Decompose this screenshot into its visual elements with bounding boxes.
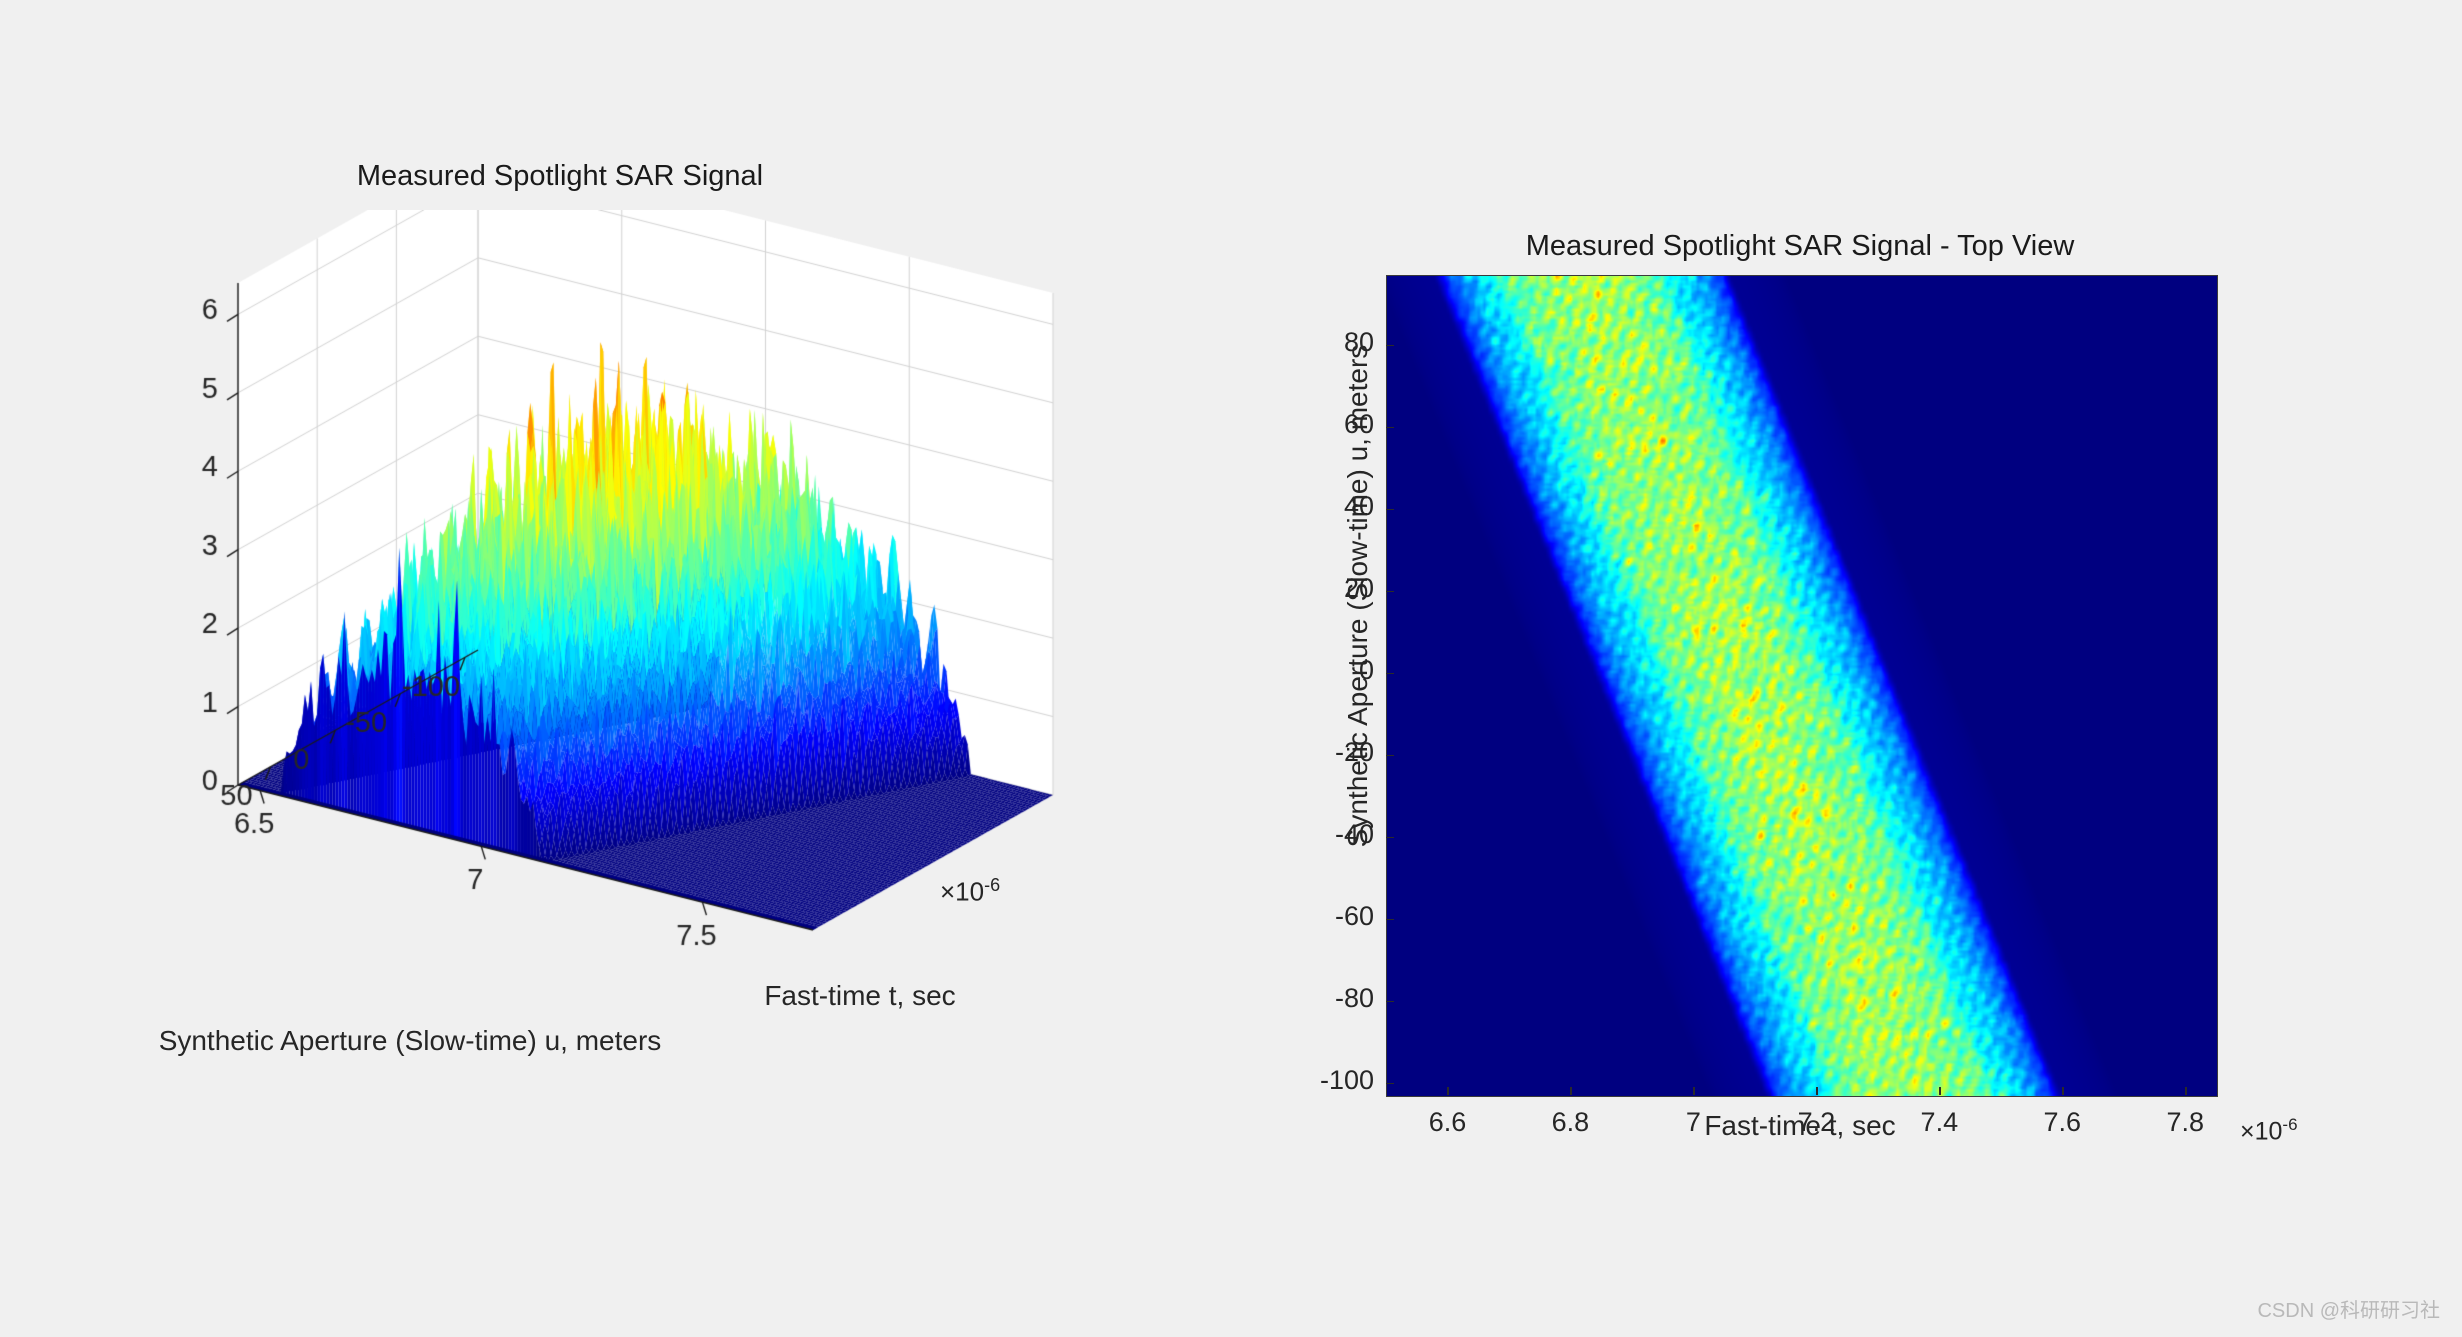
heatmap-xtick-mark <box>2185 1087 2187 1095</box>
heatmap-ytick: 80 <box>1290 327 1374 358</box>
heatmap-ytick: 40 <box>1290 491 1374 522</box>
heatmap-xtick-mark <box>1693 1087 1695 1095</box>
heatmap-ytick: -80 <box>1290 983 1374 1014</box>
heatmap-xtick: 6.6 <box>1407 1107 1487 1138</box>
surface-xaxis-label: Fast-time t, sec <box>670 980 1050 1012</box>
heatmap-ytick-mark <box>1386 509 1394 511</box>
heatmap-xtick-mark <box>1570 1087 1572 1095</box>
heatmap-xtick: 7.2 <box>1776 1107 1856 1138</box>
heatmap-ytick-mark <box>1386 591 1394 593</box>
surface-plot-canvas <box>130 210 1190 1000</box>
heatmap-ytick-mark <box>1386 1001 1394 1003</box>
heatmap-ytick: 0 <box>1290 655 1374 686</box>
heatmap-ytick-mark <box>1386 673 1394 675</box>
heatmap-ytick-mark <box>1386 755 1394 757</box>
heatmap-xtick-mark <box>1816 1087 1818 1095</box>
heatmap-ytick-mark <box>1386 427 1394 429</box>
heatmap-ytick: -40 <box>1290 819 1374 850</box>
matlab-figure: Measured Spotlight SAR Signal Fast-time … <box>0 0 2462 1337</box>
heatmap-ytick: 20 <box>1290 573 1374 604</box>
heatmap-ytick: -20 <box>1290 737 1374 768</box>
surface-yaxis-label: Synthetic Aperture (Slow-time) u, meters <box>130 1025 690 1057</box>
heatmap-ytick-mark <box>1386 837 1394 839</box>
heatmap-ytick: 60 <box>1290 409 1374 440</box>
surface-xaxis-exponent: ×10-6 <box>940 875 1000 908</box>
heatmap-exponent-power: -6 <box>2282 1115 2297 1134</box>
heatmap-xtick: 7.4 <box>1899 1107 1979 1138</box>
heatmap-canvas <box>1386 275 2218 1097</box>
surface-plot-panel: Measured Spotlight SAR Signal Fast-time … <box>130 170 1190 1280</box>
heatmap-exponent-base: ×10 <box>2240 1117 2282 1145</box>
heatmap-panel: Measured Spotlight SAR Signal - Top View… <box>1290 230 2360 1290</box>
heatmap-title: Measured Spotlight SAR Signal - Top View <box>1380 230 2220 263</box>
heatmap-ytick-mark <box>1386 1083 1394 1085</box>
heatmap-ytick-mark <box>1386 919 1394 921</box>
heatmap-xtick: 7.6 <box>2022 1107 2102 1138</box>
heatmap-ytick: -100 <box>1290 1065 1374 1096</box>
heatmap-xtick: 7 <box>1653 1107 1733 1138</box>
heatmap-ytick-mark <box>1386 345 1394 347</box>
heatmap-xtick: 6.8 <box>1530 1107 1610 1138</box>
surface-exponent-base: ×10 <box>940 877 984 907</box>
surface-plot-title: Measured Spotlight SAR Signal <box>130 160 990 193</box>
heatmap-ytick: -60 <box>1290 901 1374 932</box>
heatmap-xtick-mark <box>1447 1087 1449 1095</box>
surface-exponent-power: -6 <box>984 875 1000 895</box>
heatmap-xtick: 7.8 <box>2145 1107 2225 1138</box>
heatmap-xtick-mark <box>2062 1087 2064 1095</box>
watermark: CSDN @科研研习社 <box>2257 1294 2440 1323</box>
heatmap-xaxis-exponent: ×10-6 <box>2240 1115 2298 1146</box>
heatmap-xtick-mark <box>1939 1087 1941 1095</box>
